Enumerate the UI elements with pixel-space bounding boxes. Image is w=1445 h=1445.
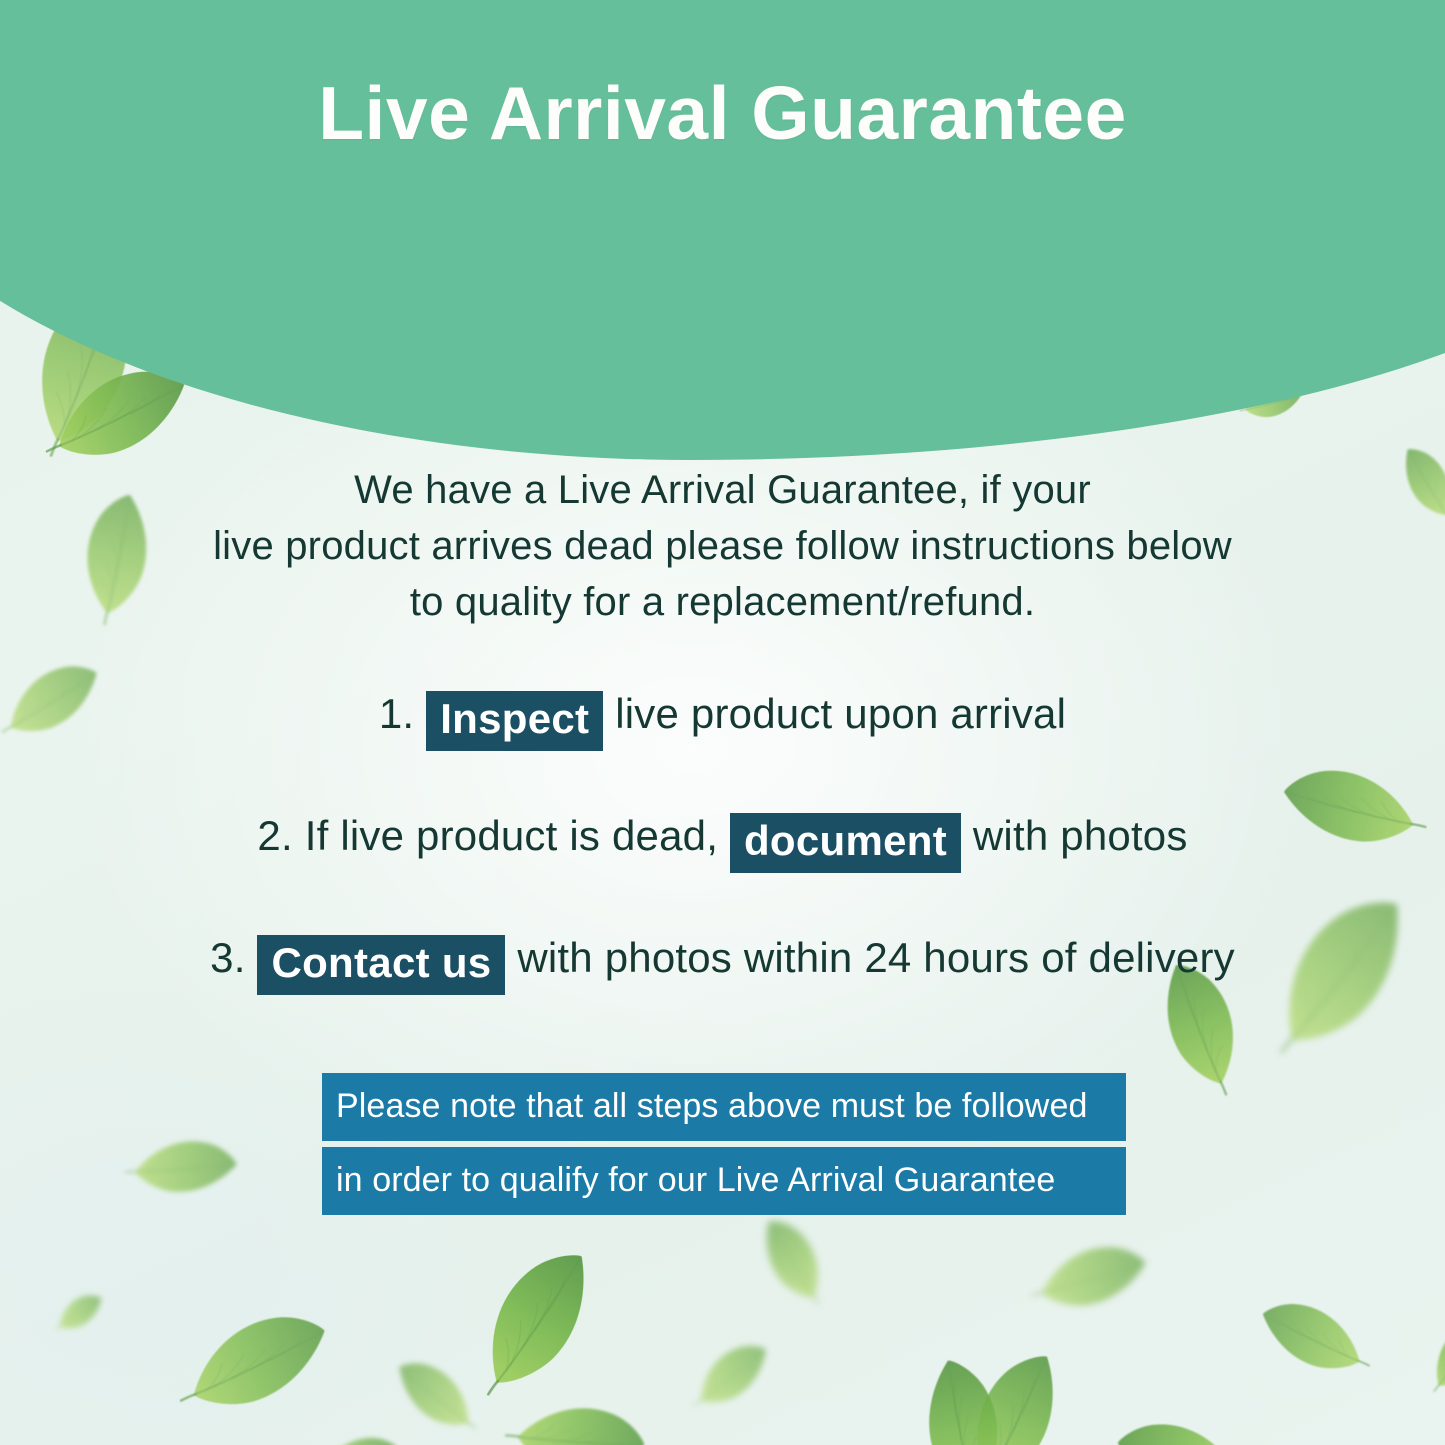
note-banner-line-1: Please note that all steps above must be… (322, 1073, 1126, 1141)
step-item-2: 2. If live product is dead, document wit… (0, 805, 1445, 873)
leaf-icon (1253, 1265, 1372, 1410)
leaf-icon (693, 1302, 772, 1445)
leaf-icon (176, 1262, 339, 1445)
intro-line-3: to quality for a replacement/refund. (0, 574, 1445, 630)
step-3-chip-contact-us: Contact us (257, 935, 505, 995)
step-item-1: 1. Inspect live product upon arrival (0, 683, 1445, 751)
step-2-text-before: If live product is dead, (305, 812, 718, 859)
leaf-icon (449, 1245, 626, 1395)
leaf-icon (933, 1317, 1098, 1445)
step-2-chip-document: document (730, 813, 961, 873)
intro-line-1: We have a Live Arrival Guarantee, if you… (0, 462, 1445, 518)
leaf-icon (1421, 1296, 1445, 1415)
leaf-icon (1108, 1384, 1253, 1445)
header-green-shape (0, 0, 1445, 460)
note-banner-line-2: in order to qualify for our Live Arrival… (322, 1147, 1126, 1215)
instruction-steps-list: 1. Inspect live product upon arrival 2. … (0, 683, 1445, 995)
step-1-number: 1. (379, 690, 414, 737)
step-1-chip-inspect: Inspect (426, 691, 603, 751)
step-item-3: 3. Contact us with photos within 24 hour… (0, 927, 1445, 995)
leaf-icon (303, 1401, 406, 1445)
leaf-icon (503, 1362, 658, 1445)
leaf-icon (394, 1327, 475, 1445)
step-1-text-after: live product upon arrival (615, 690, 1066, 737)
step-2-number: 2. (257, 812, 292, 859)
leaf-icon (52, 1262, 108, 1363)
page-title: Live Arrival Guarantee (0, 70, 1445, 156)
step-2-text-after: with photos (973, 812, 1188, 859)
leaf-icon (1031, 1218, 1155, 1338)
step-3-number: 3. (210, 934, 245, 981)
step-3-text-after: with photos within 24 hours of delivery (517, 934, 1235, 981)
leaf-icon (738, 1214, 848, 1306)
leaf-icon (124, 1105, 246, 1229)
live-arrival-guarantee-poster: Live Arrival Guarantee We have a Live Ar… (0, 0, 1445, 1445)
leaf-icon (863, 1338, 1061, 1445)
intro-paragraph: We have a Live Arrival Guarantee, if you… (0, 462, 1445, 630)
intro-line-2: live product arrives dead please follow … (0, 518, 1445, 574)
